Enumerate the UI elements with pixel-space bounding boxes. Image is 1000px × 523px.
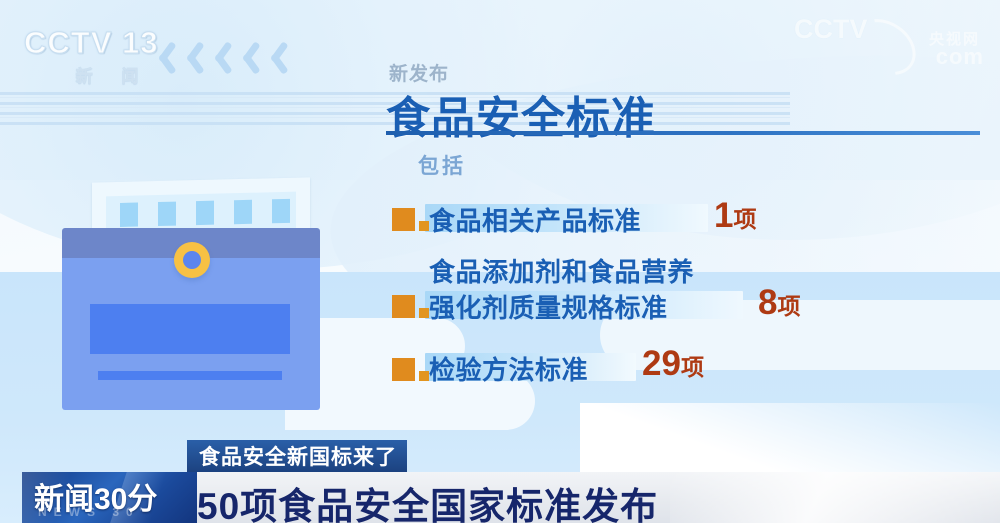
news-headline-bar: 50项食品安全国家标准发布 [150, 472, 1000, 523]
folder-ring-icon [174, 242, 210, 278]
bullet-square-icon [392, 208, 429, 231]
news-topic-tag: 食品安全新国标来了 [187, 440, 407, 472]
program-logo: 新闻30分 NEWS 30' [22, 472, 197, 523]
folder-illustration [62, 180, 320, 410]
headline-bar-shine [670, 472, 1000, 523]
folder-label-block [90, 304, 290, 354]
item-count: 29项 [642, 344, 704, 384]
program-logo-en: NEWS 30' [38, 505, 150, 519]
item-label: 检验方法标准 [429, 350, 588, 387]
item-label-line1: 食品添加剂和食品营养 [429, 252, 694, 289]
infographic-subkicker: 包括 [418, 150, 466, 180]
bullet-square-icon [392, 358, 429, 381]
broadcast-screen: CCTV 13 新 闻 CCTV 央视网 com 新发布 食品安全标准 包括 [0, 0, 1000, 523]
folder-front-pocket [62, 258, 320, 410]
item-label-line2: 强化剂质量规格标准 [429, 288, 668, 325]
news-headline-text: 50项食品安全国家标准发布 [197, 476, 658, 523]
item-count-unit: 项 [733, 206, 756, 232]
item-count-number: 8 [758, 283, 777, 322]
cctv-com-watermark: CCTV 央视网 com [794, 14, 984, 70]
item-label: 食品相关产品标准 [429, 201, 641, 238]
chevron-arrows-icon [150, 33, 288, 79]
news-topic-tag-label: 食品安全新国标来了 [199, 441, 397, 471]
bullet-square-icon [392, 295, 429, 318]
folder-label-line [98, 371, 282, 380]
title-underline [386, 131, 980, 135]
item-count-number: 1 [714, 196, 733, 235]
item-count: 1项 [714, 196, 756, 236]
item-count-unit: 项 [681, 354, 704, 380]
watermark-com-text: com [936, 44, 984, 70]
item-count-unit: 项 [777, 293, 800, 319]
infographic-title: 食品安全标准 [386, 82, 656, 146]
item-count: 8项 [758, 283, 800, 323]
item-count-number: 29 [642, 344, 681, 383]
